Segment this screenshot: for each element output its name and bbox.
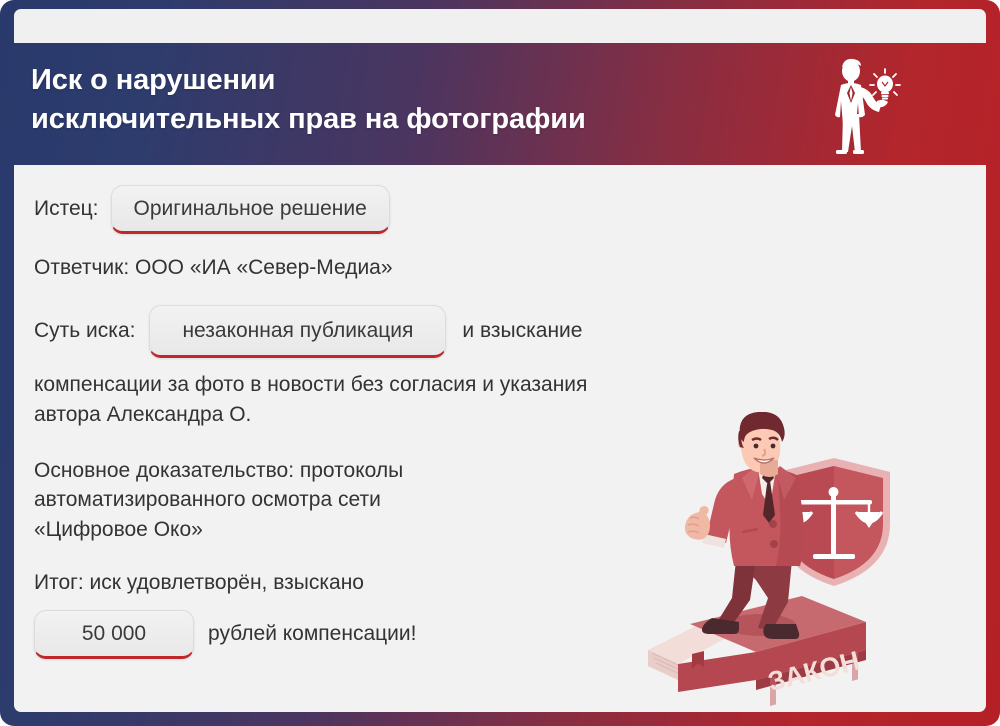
amount-value-chip[interactable]: 50 000	[34, 610, 194, 659]
claim-label: Суть иска:	[34, 317, 135, 346]
page-title-line1: Иск о нарушении	[31, 61, 791, 100]
lawyer-with-shield-on-law-book: ЗАКОН	[630, 412, 930, 712]
law-book-icon: ЗАКОН	[648, 596, 866, 706]
claim-tail-text: и взыскание	[462, 317, 582, 346]
claim-row: Суть иска: незаконная публикация и взыск…	[34, 305, 714, 358]
plaintiff-value-chip[interactable]: Оригинальное решение	[111, 185, 390, 234]
claim-body-line1: компенсации за фото в новости без соглас…	[34, 370, 714, 400]
plaintiff-row: Истец: Оригинальное решение	[34, 185, 714, 234]
lawyer-torso	[730, 466, 805, 566]
top-strip	[14, 9, 986, 43]
evidence-line1: Основное доказательство: протоколы	[34, 456, 714, 486]
lawyer-head	[738, 412, 785, 477]
amount-row: 50 000 рублей компенсации!	[34, 610, 714, 659]
claim-value-chip[interactable]: незаконная публикация	[149, 305, 446, 358]
content-panel: Истец: Оригинальное решение Ответчик: ОО…	[14, 165, 986, 712]
page-title-line2: исключительных прав на фотографии	[31, 100, 791, 139]
plaintiff-label: Истец:	[34, 195, 99, 224]
evidence-line3: «Цифровое Око»	[34, 515, 714, 545]
evidence-line2: автоматизированного осмотра сети	[34, 485, 714, 515]
evidence-block: Основное доказательство: протоколы автом…	[34, 456, 714, 545]
card-frame: Иск о нарушении исключительных прав на ф…	[0, 0, 1000, 726]
case-details: Истец: Оригинальное решение Ответчик: ОО…	[34, 185, 714, 659]
businessman-with-lightbulb-icon	[825, 51, 917, 159]
claim-body: компенсации за фото в новости без соглас…	[34, 370, 714, 430]
defendant-row: Ответчик: ООО «ИА «Север-Медиа»	[34, 254, 714, 283]
result-row: Итог: иск удовлетворён, взыскано	[34, 569, 714, 598]
defendant-label: Ответчик: ООО «ИА «Север-Медиа»	[34, 254, 393, 283]
claim-body-line2: автора Александра О.	[34, 400, 714, 430]
amount-tail-text: рублей компенсации!	[208, 620, 416, 649]
result-label: Итог: иск удовлетворён, взыскано	[34, 569, 364, 598]
page-title: Иск о нарушении исключительных прав на ф…	[31, 61, 791, 139]
header-band: Иск о нарушении исключительных прав на ф…	[0, 43, 1000, 165]
